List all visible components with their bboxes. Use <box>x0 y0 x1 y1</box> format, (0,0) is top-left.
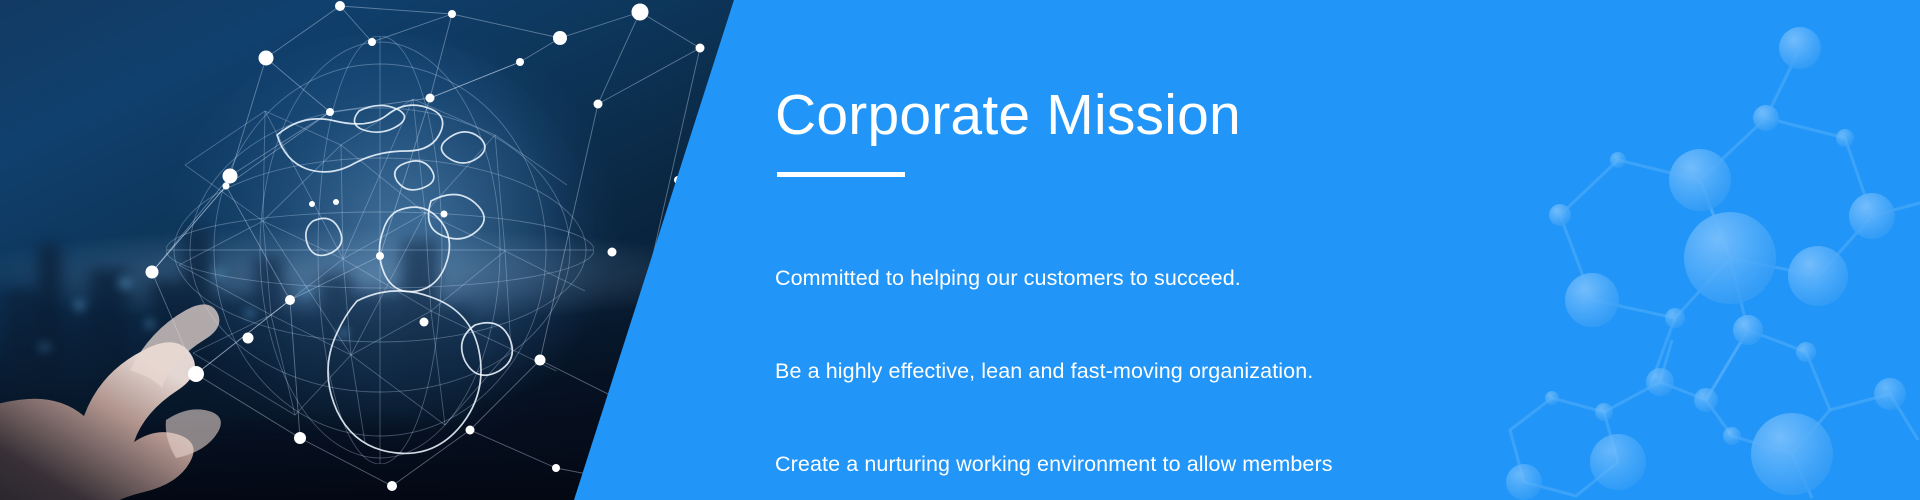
mission-line-3: Create a nurturing working environment t… <box>775 449 1675 480</box>
mission-line-1: Committed to helping our customers to su… <box>775 263 1675 294</box>
corporate-mission-banner: Corporate Mission Committed to helping o… <box>0 0 1920 500</box>
page-title: Corporate Mission <box>775 86 1675 146</box>
mission-statement: Committed to helping our customers to su… <box>775 201 1675 500</box>
mission-content: Corporate Mission Committed to helping o… <box>775 86 1675 500</box>
title-divider <box>777 172 905 177</box>
mission-line-2: Be a highly effective, lean and fast-mov… <box>775 356 1675 387</box>
